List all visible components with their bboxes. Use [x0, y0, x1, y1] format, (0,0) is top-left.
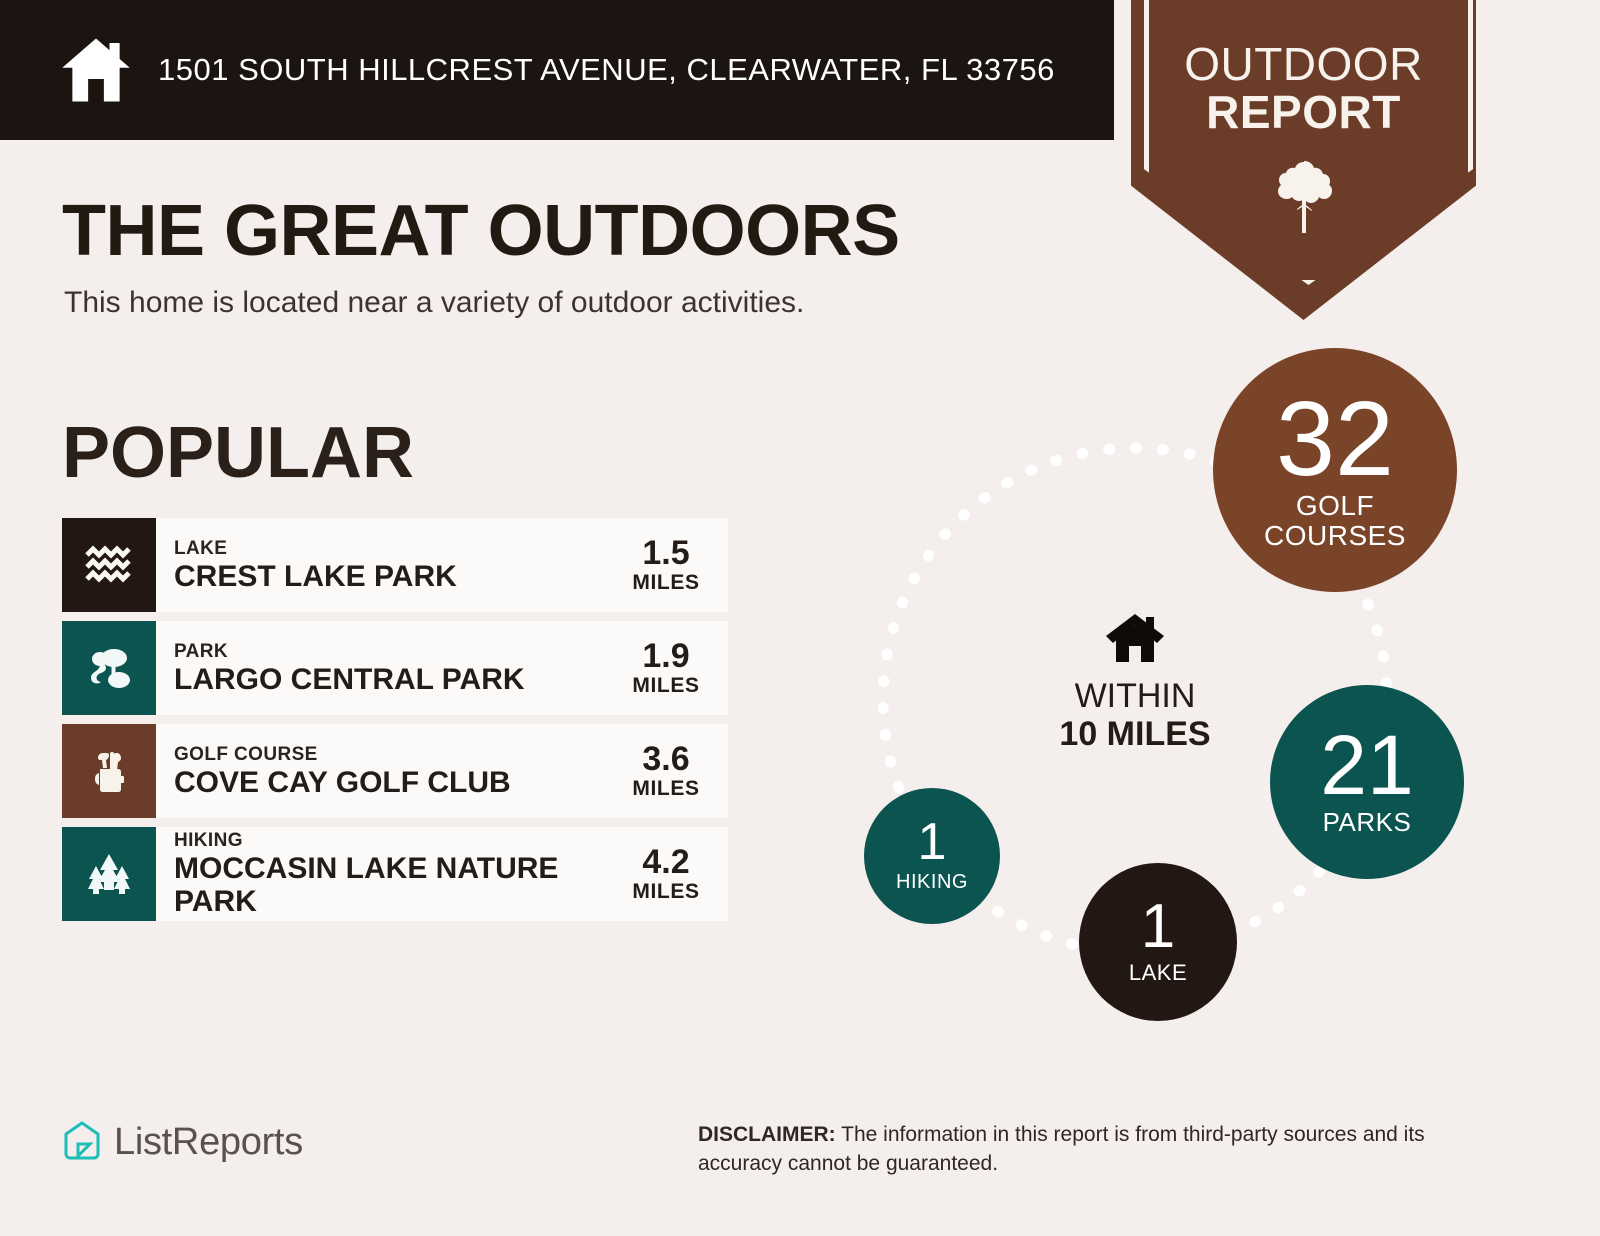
- listreports-logo[interactable]: ListReports: [62, 1120, 303, 1164]
- list-item-distance-unit: MILES: [618, 777, 714, 801]
- page-title: THE GREAT OUTDOORS: [62, 190, 900, 272]
- list-item-category: HIKING: [174, 830, 618, 852]
- list-item-body: GOLF COURSE COVE CAY GOLF CLUB 3.6 MILES: [156, 724, 728, 818]
- list-item-distance-value: 1.9: [618, 638, 714, 674]
- bubble-count: 1: [918, 818, 947, 867]
- list-item-distance-value: 1.5: [618, 535, 714, 571]
- bubble-label-line2: COURSES: [1264, 521, 1406, 551]
- diagram-center: WITHIN 10 MILES: [1020, 612, 1250, 753]
- bubble-lake[interactable]: 1 LAKE: [1079, 863, 1237, 1021]
- list-item-name: MOCCASIN LAKE NATURE PARK: [174, 852, 564, 918]
- list-item-name: LARGO CENTRAL PARK: [174, 663, 618, 696]
- popular-list: LAKE CREST LAKE PARK 1.5 MILES: [62, 518, 728, 930]
- pine-trees-icon: [83, 848, 135, 900]
- list-item-distance: 4.2 MILES: [618, 844, 720, 904]
- bubble-hiking[interactable]: 1 HIKING: [864, 788, 1000, 924]
- list-item-name: CREST LAKE PARK: [174, 560, 618, 593]
- home-icon: [1104, 651, 1166, 668]
- popular-heading: POPULAR: [62, 412, 414, 494]
- diagram-center-line2: 10 MILES: [1020, 715, 1250, 753]
- list-item-distance-value: 4.2: [618, 844, 714, 880]
- bubble-label-line1: HIKING: [896, 871, 968, 894]
- list-item[interactable]: HIKING MOCCASIN LAKE NATURE PARK 4.2 MIL…: [62, 827, 728, 921]
- list-item-distance-value: 3.6: [618, 741, 714, 777]
- bubble-count: 1: [1141, 898, 1175, 957]
- disclaimer-label: DISCLAIMER:: [698, 1123, 836, 1146]
- list-item-distance: 1.5 MILES: [618, 535, 720, 595]
- listreports-logo-text: ListReports: [114, 1121, 303, 1164]
- disclaimer: DISCLAIMER: The information in this repo…: [698, 1120, 1508, 1178]
- list-item-body: HIKING MOCCASIN LAKE NATURE PARK 4.2 MIL…: [156, 827, 728, 921]
- list-item-text: GOLF COURSE COVE CAY GOLF CLUB: [174, 744, 618, 799]
- list-item-text: HIKING MOCCASIN LAKE NATURE PARK: [174, 830, 618, 918]
- property-address: 1501 SOUTH HILLCREST AVENUE, CLEARWATER,…: [158, 52, 1055, 88]
- header-content: 1501 SOUTH HILLCREST AVENUE, CLEARWATER,…: [60, 0, 1055, 140]
- list-item-distance-unit: MILES: [618, 674, 714, 698]
- badge-title-line1: OUTDOOR: [1184, 38, 1423, 90]
- badge-title: OUTDOOR REPORT: [1131, 40, 1476, 136]
- list-item-icon-tile: [62, 724, 156, 818]
- bubble-label-line1: LAKE: [1129, 960, 1187, 986]
- waves-icon: [83, 539, 135, 591]
- list-item-category: GOLF COURSE: [174, 744, 618, 766]
- tree-icon: [1272, 160, 1336, 238]
- park-trees-icon: [83, 642, 135, 694]
- list-item-category: PARK: [174, 641, 618, 663]
- list-item-category: LAKE: [174, 538, 618, 560]
- bubble-label-line1: GOLF: [1296, 491, 1374, 521]
- list-item-distance-unit: MILES: [618, 571, 714, 595]
- list-item-body: PARK LARGO CENTRAL PARK 1.9 MILES: [156, 621, 728, 715]
- list-item-icon-tile: [62, 518, 156, 612]
- bubble-label-line1: PARKS: [1323, 807, 1412, 838]
- badge-title-line2: REPORT: [1131, 88, 1476, 136]
- home-icon: [60, 34, 132, 106]
- bubble-golf-courses[interactable]: 32 GOLF COURSES: [1213, 348, 1457, 592]
- list-item-distance: 1.9 MILES: [618, 638, 720, 698]
- list-item[interactable]: PARK LARGO CENTRAL PARK 1.9 MILES: [62, 621, 728, 715]
- list-item[interactable]: GOLF COURSE COVE CAY GOLF CLUB 3.6 MILES: [62, 724, 728, 818]
- page-subtitle: This home is located near a variety of o…: [64, 286, 804, 320]
- listreports-house-icon: [62, 1120, 102, 1164]
- list-item[interactable]: LAKE CREST LAKE PARK 1.5 MILES: [62, 518, 728, 612]
- header-bar: 1501 SOUTH HILLCREST AVENUE, CLEARWATER,…: [0, 0, 1114, 140]
- list-item-distance: 3.6 MILES: [618, 741, 720, 801]
- list-item-body: LAKE CREST LAKE PARK 1.5 MILES: [156, 518, 728, 612]
- golf-bag-icon: [83, 745, 135, 797]
- bubble-count: 32: [1276, 389, 1394, 490]
- diagram-center-line1: WITHIN: [1020, 677, 1250, 715]
- list-item-text: LAKE CREST LAKE PARK: [174, 538, 618, 593]
- list-item-icon-tile: [62, 827, 156, 921]
- list-item-distance-unit: MILES: [618, 880, 714, 904]
- bubble-count: 21: [1320, 726, 1413, 806]
- list-item-name: COVE CAY GOLF CLUB: [174, 766, 618, 799]
- list-item-icon-tile: [62, 621, 156, 715]
- list-item-text: PARK LARGO CENTRAL PARK: [174, 641, 618, 696]
- bubble-parks[interactable]: 21 PARKS: [1270, 685, 1464, 879]
